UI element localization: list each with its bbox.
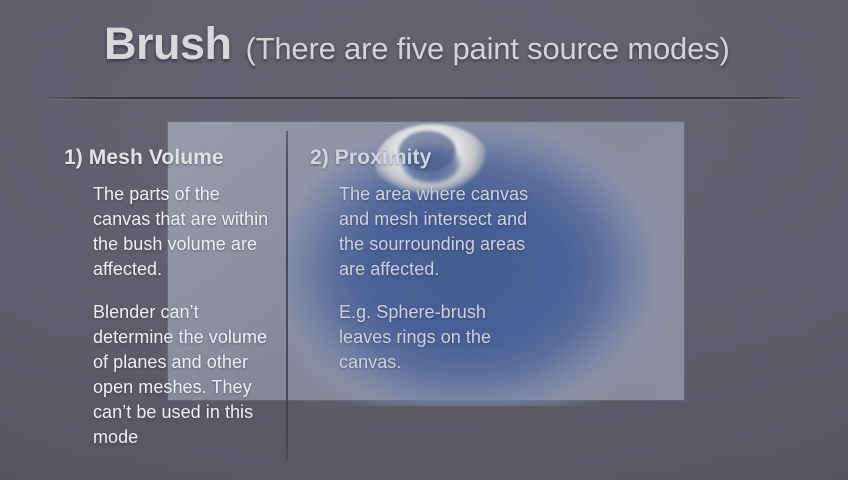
title-subtitle-text: (There are five paint source modes)	[246, 31, 730, 67]
column-proximity: 2) Proximity The area where canvas and m…	[310, 146, 535, 375]
column-paragraph: Blender can’t determine the volume of pl…	[64, 300, 282, 450]
title-main-text: Brush	[104, 18, 232, 70]
column-paragraph: The area where canvas and mesh intersect…	[310, 182, 535, 282]
column-heading: 2) Proximity	[310, 146, 535, 170]
column-heading: 1) Mesh Volume	[64, 146, 282, 170]
slide-title: Brush (There are five paint source modes…	[104, 18, 730, 70]
column-divider	[286, 131, 288, 461]
slide-canvas: Brush (There are five paint source modes…	[0, 0, 848, 480]
column-paragraph: The parts of the canvas that are within …	[64, 182, 282, 282]
column-paragraph: E.g. Sphere-brush leaves rings on the ca…	[310, 300, 535, 375]
column-mesh-volume: 1) Mesh Volume The parts of the canvas t…	[64, 146, 282, 450]
header-divider-rule	[50, 97, 802, 99]
